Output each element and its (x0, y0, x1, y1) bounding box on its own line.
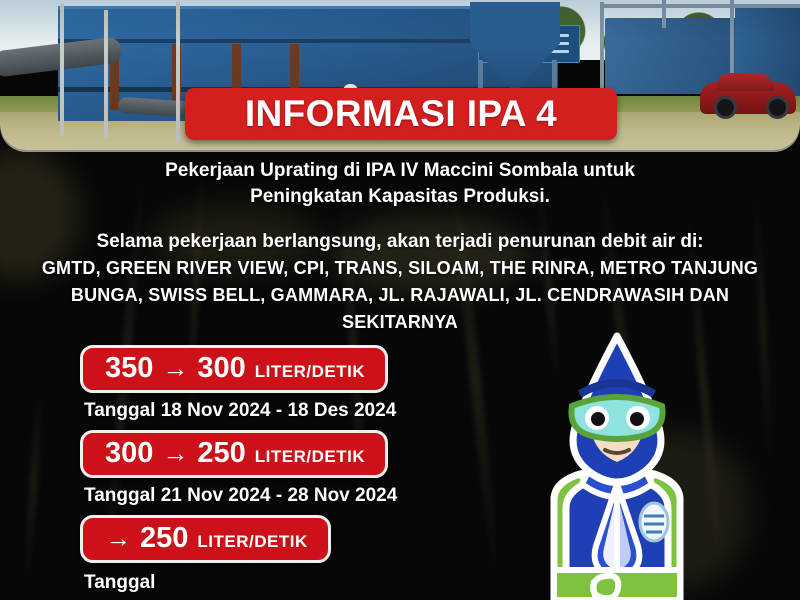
rate-badge: 350 → 300 LITER/DETIK (80, 345, 388, 393)
mascot-chest-emblem (640, 503, 668, 541)
body-block: Selama pekerjaan berlangsung, akan terja… (28, 228, 772, 336)
mascot-figure (492, 332, 742, 600)
affected-areas-line-1: GMTD, GREEN RIVER VIEW, CPI, TRANS, SILO… (28, 255, 772, 282)
rate-unit: LITER/DETIK (255, 363, 365, 380)
subtitle-line-1: Pekerjaan Uprating di IPA IV Maccini Som… (60, 158, 740, 184)
subtitle-line-2: Peningkatan Kapasitas Produksi. (60, 184, 740, 210)
page-title: INFORMASI IPA 4 (245, 93, 557, 135)
body-lead: Selama pekerjaan berlangsung, akan terja… (28, 228, 772, 255)
affected-areas-line-2: BUNGA, SWISS BELL, GAMMARA, JL. RAJAWALI… (28, 282, 772, 309)
rate-to: 300 (197, 354, 245, 383)
rate-badge: → 250 LITER/DETIK (80, 515, 331, 563)
rate-to: 250 (140, 524, 188, 553)
arrow-right-icon: → (105, 525, 131, 551)
rate-unit: LITER/DETIK (255, 448, 365, 465)
title-banner: INFORMASI IPA 4 (185, 88, 617, 140)
subtitle-block: Pekerjaan Uprating di IPA IV Maccini Som… (60, 158, 740, 210)
rate-unit: LITER/DETIK (197, 533, 307, 550)
rate-badge: 300 → 250 LITER/DETIK (80, 430, 388, 478)
poster-root: INFORMASI IPA 4 Pekerjaan Uprating di IP… (0, 0, 800, 600)
rate-to: 250 (197, 439, 245, 468)
arrow-right-icon: → (162, 355, 188, 381)
rate-from: 300 (105, 439, 153, 468)
arrow-right-icon: → (162, 440, 188, 466)
mascot-svg (492, 332, 742, 600)
rate-from: 350 (105, 354, 153, 383)
